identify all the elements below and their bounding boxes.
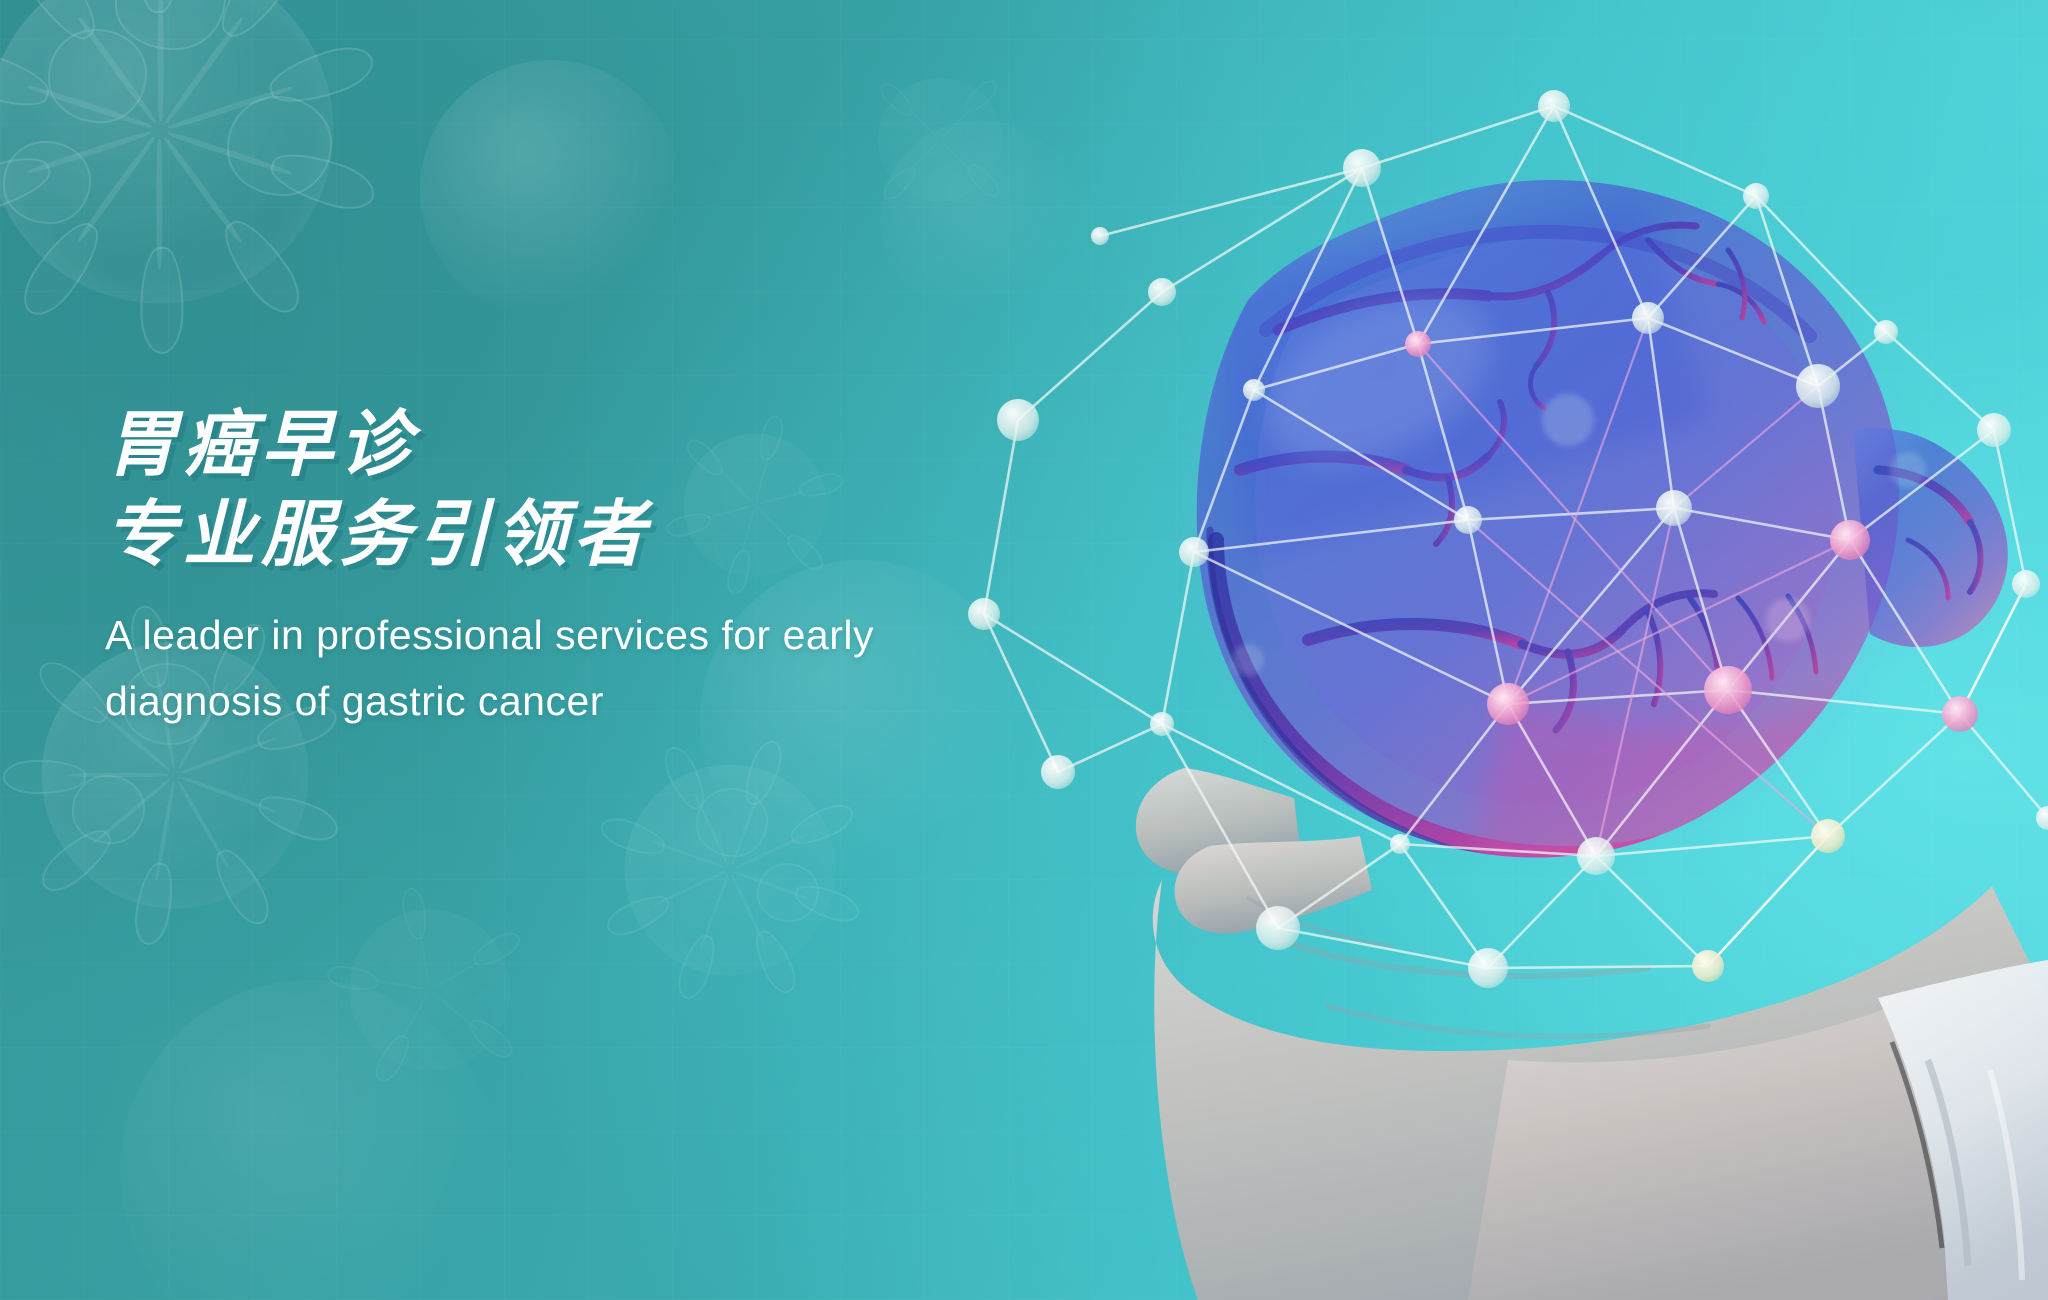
illustration-svg	[948, 0, 2048, 1300]
network-node-accent	[1692, 950, 1724, 982]
hero-illustration	[948, 0, 2048, 1300]
network-node	[1390, 834, 1410, 854]
network-node-accent	[1704, 666, 1752, 714]
network-node	[1796, 364, 1840, 408]
virus-particle-watermark	[300, 860, 560, 1120]
network-node	[1091, 227, 1109, 245]
network-node	[1874, 320, 1898, 344]
network-node	[1656, 490, 1692, 526]
virus-particle-watermark	[560, 700, 900, 1040]
network-node-ghost	[1542, 394, 1594, 446]
network-node-accent	[1405, 331, 1431, 357]
network-node	[2036, 806, 2048, 830]
virus-bleb	[696, 788, 768, 857]
virus-core	[349, 909, 510, 1070]
virus-bleb	[227, 96, 332, 195]
network-node	[1538, 90, 1570, 122]
virus-bleb	[3, 141, 91, 223]
network-node	[2012, 570, 2040, 598]
stomach-pylorus	[1853, 428, 2008, 647]
virus-bleb	[757, 863, 819, 921]
network-node	[1577, 837, 1615, 875]
bokeh-blob	[420, 60, 680, 320]
network-node	[1150, 712, 1174, 736]
network-node	[1468, 948, 1508, 988]
network-node	[1632, 302, 1664, 334]
hero-copy: 胃癌早诊 专业服务引领者 A leader in professional se…	[105, 400, 1105, 734]
virus-bleb	[72, 775, 145, 844]
headline-cn-line-2: 专业服务引领者	[105, 490, 1105, 580]
network-node	[1243, 379, 1265, 401]
banner-hero: 胃癌早诊 专业服务引领者 A leader in professional se…	[0, 0, 2048, 1300]
network-node	[1041, 755, 1075, 789]
stomach-organ	[1197, 180, 2008, 880]
network-node	[1179, 537, 1209, 567]
network-node-ghost	[1766, 598, 1810, 642]
subtitle-en-line-1: A leader in professional services for ea…	[105, 602, 1105, 668]
network-node-accent	[1830, 520, 1870, 560]
network-node	[1977, 413, 2011, 447]
network-node	[1148, 278, 1176, 306]
headline-cn-line-1: 胃癌早诊	[105, 400, 1105, 490]
network-node-accent	[1487, 683, 1529, 725]
virus-bleb	[48, 29, 147, 123]
network-node-ghost	[1890, 452, 1926, 488]
network-node-ghost	[1232, 644, 1264, 676]
subtitle-en: A leader in professional services for ea…	[105, 602, 1105, 734]
network-node	[1343, 149, 1381, 187]
subtitle-en-line-2: diagnosis of gastric cancer	[105, 668, 1105, 734]
network-node-accent	[1942, 696, 1978, 732]
network-node	[1743, 183, 1769, 209]
network-node-accent	[1811, 819, 1845, 853]
network-node	[1454, 506, 1482, 534]
virus-particle-watermark	[0, 0, 440, 410]
network-node	[1256, 906, 1300, 950]
